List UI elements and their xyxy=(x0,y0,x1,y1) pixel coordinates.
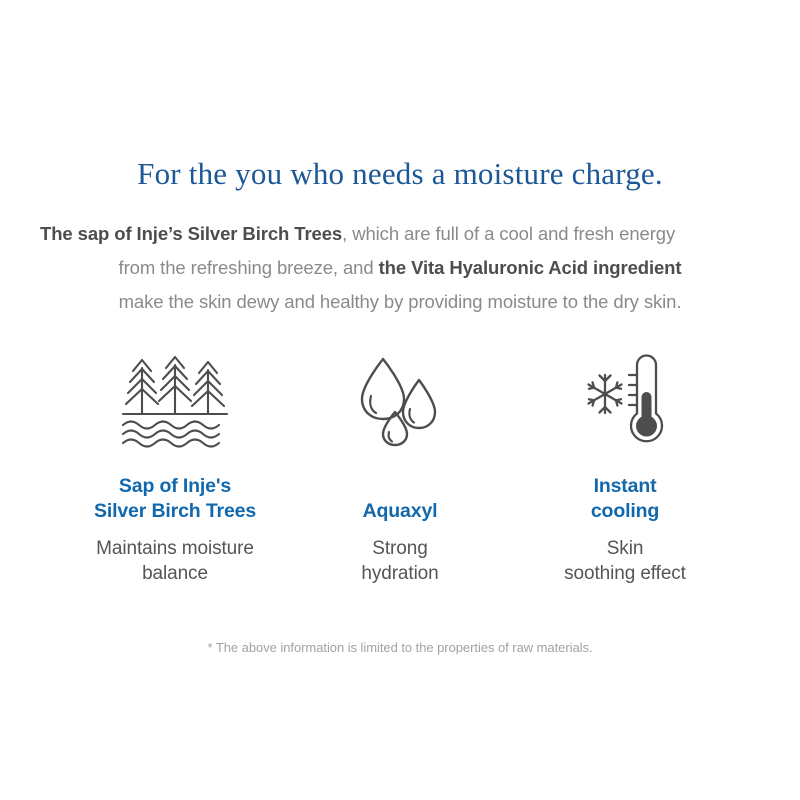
feature-title-sap-of-inje: Sap of Inje's Silver Birch Trees xyxy=(94,466,256,524)
intro-paragraph: The sap of Inje’s Silver Birch Trees, wh… xyxy=(40,217,760,319)
feature-title-line-2: cooling xyxy=(591,499,659,524)
feature-title-aquaxyl: Aquaxyl xyxy=(363,466,438,524)
feature-row: Sap of Inje's Silver Birch Trees Maintai… xyxy=(70,352,730,586)
pine-trees-water-icon xyxy=(120,352,230,452)
footnote-disclaimer: * The above information is limited to th… xyxy=(0,640,800,655)
promo-page: For the you who needs a moisture charge.… xyxy=(0,0,800,800)
feature-desc-line-2: hydration xyxy=(361,561,438,586)
feature-title-instant-cooling: Instant cooling xyxy=(591,466,659,524)
feature-desc-line-2: soothing effect xyxy=(564,561,686,586)
feature-title-line-2: Aquaxyl xyxy=(363,499,438,524)
feature-title-line-1: Instant xyxy=(591,474,659,499)
feature-desc-aquaxyl: Strong hydration xyxy=(361,536,438,586)
feature-item-sap-of-inje: Sap of Inje's Silver Birch Trees Maintai… xyxy=(70,352,280,586)
feature-item-aquaxyl: Aquaxyl Strong hydration xyxy=(295,352,505,586)
page-title: For the you who needs a moisture charge. xyxy=(0,155,800,193)
intro-line-2-pre: from the refreshing breeze, and xyxy=(119,257,379,278)
intro-line-1-bold: The sap of Inje’s Silver Birch Trees xyxy=(40,223,342,244)
feature-desc-line-1: Maintains moisture xyxy=(96,536,254,561)
feature-desc-line-1: Skin xyxy=(564,536,686,561)
feature-title-line-1: Sap of Inje's xyxy=(94,474,256,499)
feature-title-line-2: Silver Birch Trees xyxy=(94,499,256,524)
intro-line-2: from the refreshing breeze, and the Vita… xyxy=(40,251,760,285)
intro-line-1-rest: , which are full of a cool and fresh ene… xyxy=(342,223,675,244)
intro-line-3: make the skin dewy and healthy by provid… xyxy=(40,285,760,319)
snowflake-thermometer-icon xyxy=(579,352,671,452)
feature-desc-sap-of-inje: Maintains moisture balance xyxy=(96,536,254,586)
feature-desc-line-1: Strong xyxy=(361,536,438,561)
intro-line-2-bold: the Vita Hyaluronic Acid ingredient xyxy=(379,257,682,278)
feature-item-instant-cooling: Instant cooling Skin soothing effect xyxy=(520,352,730,586)
intro-line-1: The sap of Inje’s Silver Birch Trees, wh… xyxy=(40,217,760,251)
feature-desc-instant-cooling: Skin soothing effect xyxy=(564,536,686,586)
feature-desc-line-2: balance xyxy=(96,561,254,586)
water-drops-icon xyxy=(355,352,445,452)
